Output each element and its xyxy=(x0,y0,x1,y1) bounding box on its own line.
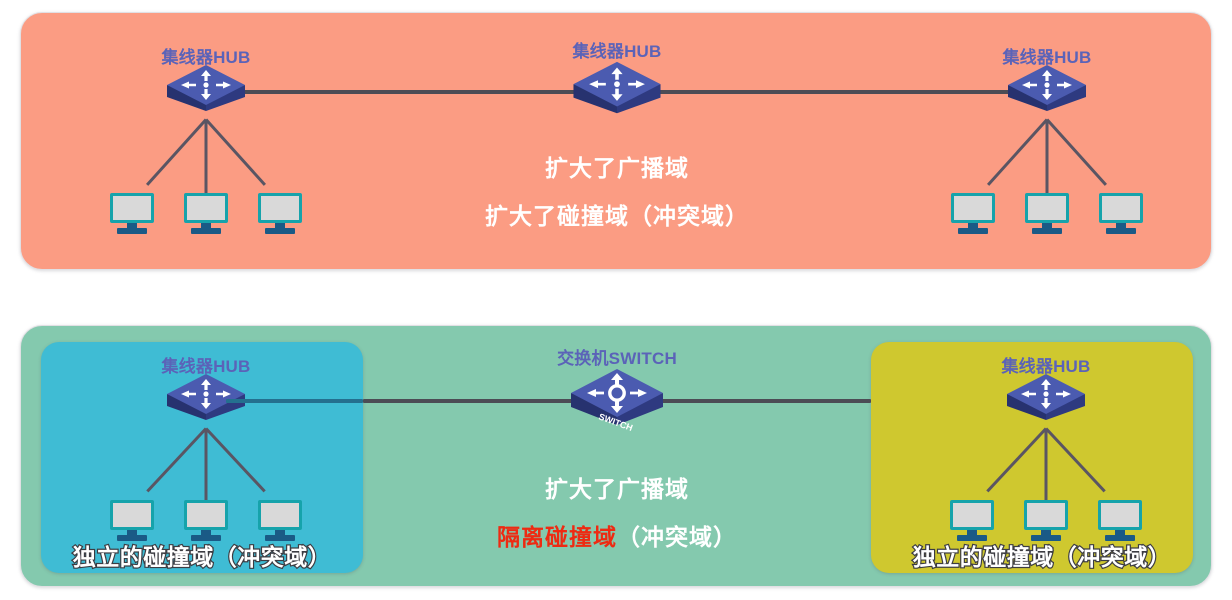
hub-to-host-link xyxy=(1045,429,1048,509)
monitor-screen xyxy=(110,193,154,223)
hub-to-host-link xyxy=(146,427,207,492)
host-monitor[interactable] xyxy=(110,193,154,234)
monitor-screen xyxy=(1098,500,1142,530)
switch-icon-svg: SWITCH xyxy=(566,363,668,441)
host-monitor[interactable] xyxy=(1098,500,1142,541)
monitor-screen xyxy=(258,193,302,223)
annotation-rest: （冲突域） xyxy=(617,518,737,552)
monitor-screen xyxy=(951,193,995,223)
host-monitor[interactable] xyxy=(184,193,228,234)
hub-icon-svg xyxy=(569,57,665,127)
hub-icon[interactable] xyxy=(1004,61,1090,123)
monitor-screen xyxy=(258,500,302,530)
monitor-base xyxy=(1032,228,1062,234)
annotation-collision-domain: 扩大了碰撞域（冲突域） xyxy=(485,197,749,231)
hub-to-host-link xyxy=(1046,120,1049,202)
monitor-base xyxy=(117,228,147,234)
monitor-screen xyxy=(1025,193,1069,223)
collision-domain-left: 集线器HUB xyxy=(41,342,363,573)
monitor-base xyxy=(265,228,295,234)
hub-icon-svg xyxy=(1003,370,1089,432)
host-monitor[interactable] xyxy=(110,500,154,541)
trunk-cable-left xyxy=(206,90,621,94)
host-monitor[interactable] xyxy=(950,500,994,541)
collision-domain-right: 集线器HUB xyxy=(871,342,1193,573)
hub-to-host-link xyxy=(205,118,266,185)
caption-collision-domain-right: 独立的碰撞域（冲突域） xyxy=(913,538,1172,572)
monitor-screen xyxy=(110,500,154,530)
host-monitor[interactable] xyxy=(951,193,995,234)
annotation-broadcast-domain: 扩大了广播域 xyxy=(545,149,689,183)
switch-icon[interactable]: SWITCH xyxy=(566,363,668,441)
hub-icon[interactable] xyxy=(1003,370,1089,432)
monitor-base xyxy=(1106,228,1136,234)
hub-to-switch-cable xyxy=(363,399,592,403)
host-monitor[interactable] xyxy=(258,500,302,541)
hub-to-switch-cable-inner xyxy=(226,399,363,403)
annotation-broadcast-domain: 扩大了广播域 xyxy=(545,470,689,504)
hub-to-host-link xyxy=(205,429,208,509)
hub-to-host-link xyxy=(987,118,1048,185)
annotation-isolated-collision-domain: 隔离碰撞域 （冲突域） xyxy=(497,518,737,552)
monitor-screen xyxy=(1024,500,1068,530)
hub-to-host-link xyxy=(205,427,266,492)
hub-icon-svg xyxy=(163,61,249,123)
hub-to-host-link xyxy=(1045,427,1106,492)
host-monitor[interactable] xyxy=(1099,193,1143,234)
hub-to-host-link xyxy=(146,118,207,185)
trunk-cable-right xyxy=(646,90,1066,94)
host-monitor[interactable] xyxy=(1025,193,1069,234)
network-diagram: 集线器HUB xyxy=(0,0,1232,600)
monitor-screen xyxy=(1099,193,1143,223)
monitor-screen xyxy=(184,500,228,530)
hub-icon-svg xyxy=(1004,61,1090,123)
host-monitor[interactable] xyxy=(1024,500,1068,541)
switch-topology-panel: 集线器HUB xyxy=(20,325,1212,587)
hub-only-topology-panel: 集线器HUB xyxy=(20,12,1212,270)
monitor-base xyxy=(958,228,988,234)
host-monitor[interactable] xyxy=(258,193,302,234)
annotation-highlight: 隔离碰撞域 xyxy=(497,518,617,552)
monitor-screen xyxy=(184,193,228,223)
monitor-base xyxy=(191,228,221,234)
monitor-screen xyxy=(950,500,994,530)
hub-to-host-link xyxy=(986,427,1047,492)
hub-icon[interactable] xyxy=(163,61,249,123)
hub-to-host-link xyxy=(1046,118,1107,185)
hub-to-host-link xyxy=(205,120,208,202)
host-monitor[interactable] xyxy=(184,500,228,541)
hub-icon[interactable] xyxy=(569,57,665,127)
switch-to-hub-cable xyxy=(643,399,871,403)
caption-collision-domain-left: 独立的碰撞域（冲突域） xyxy=(73,538,332,572)
